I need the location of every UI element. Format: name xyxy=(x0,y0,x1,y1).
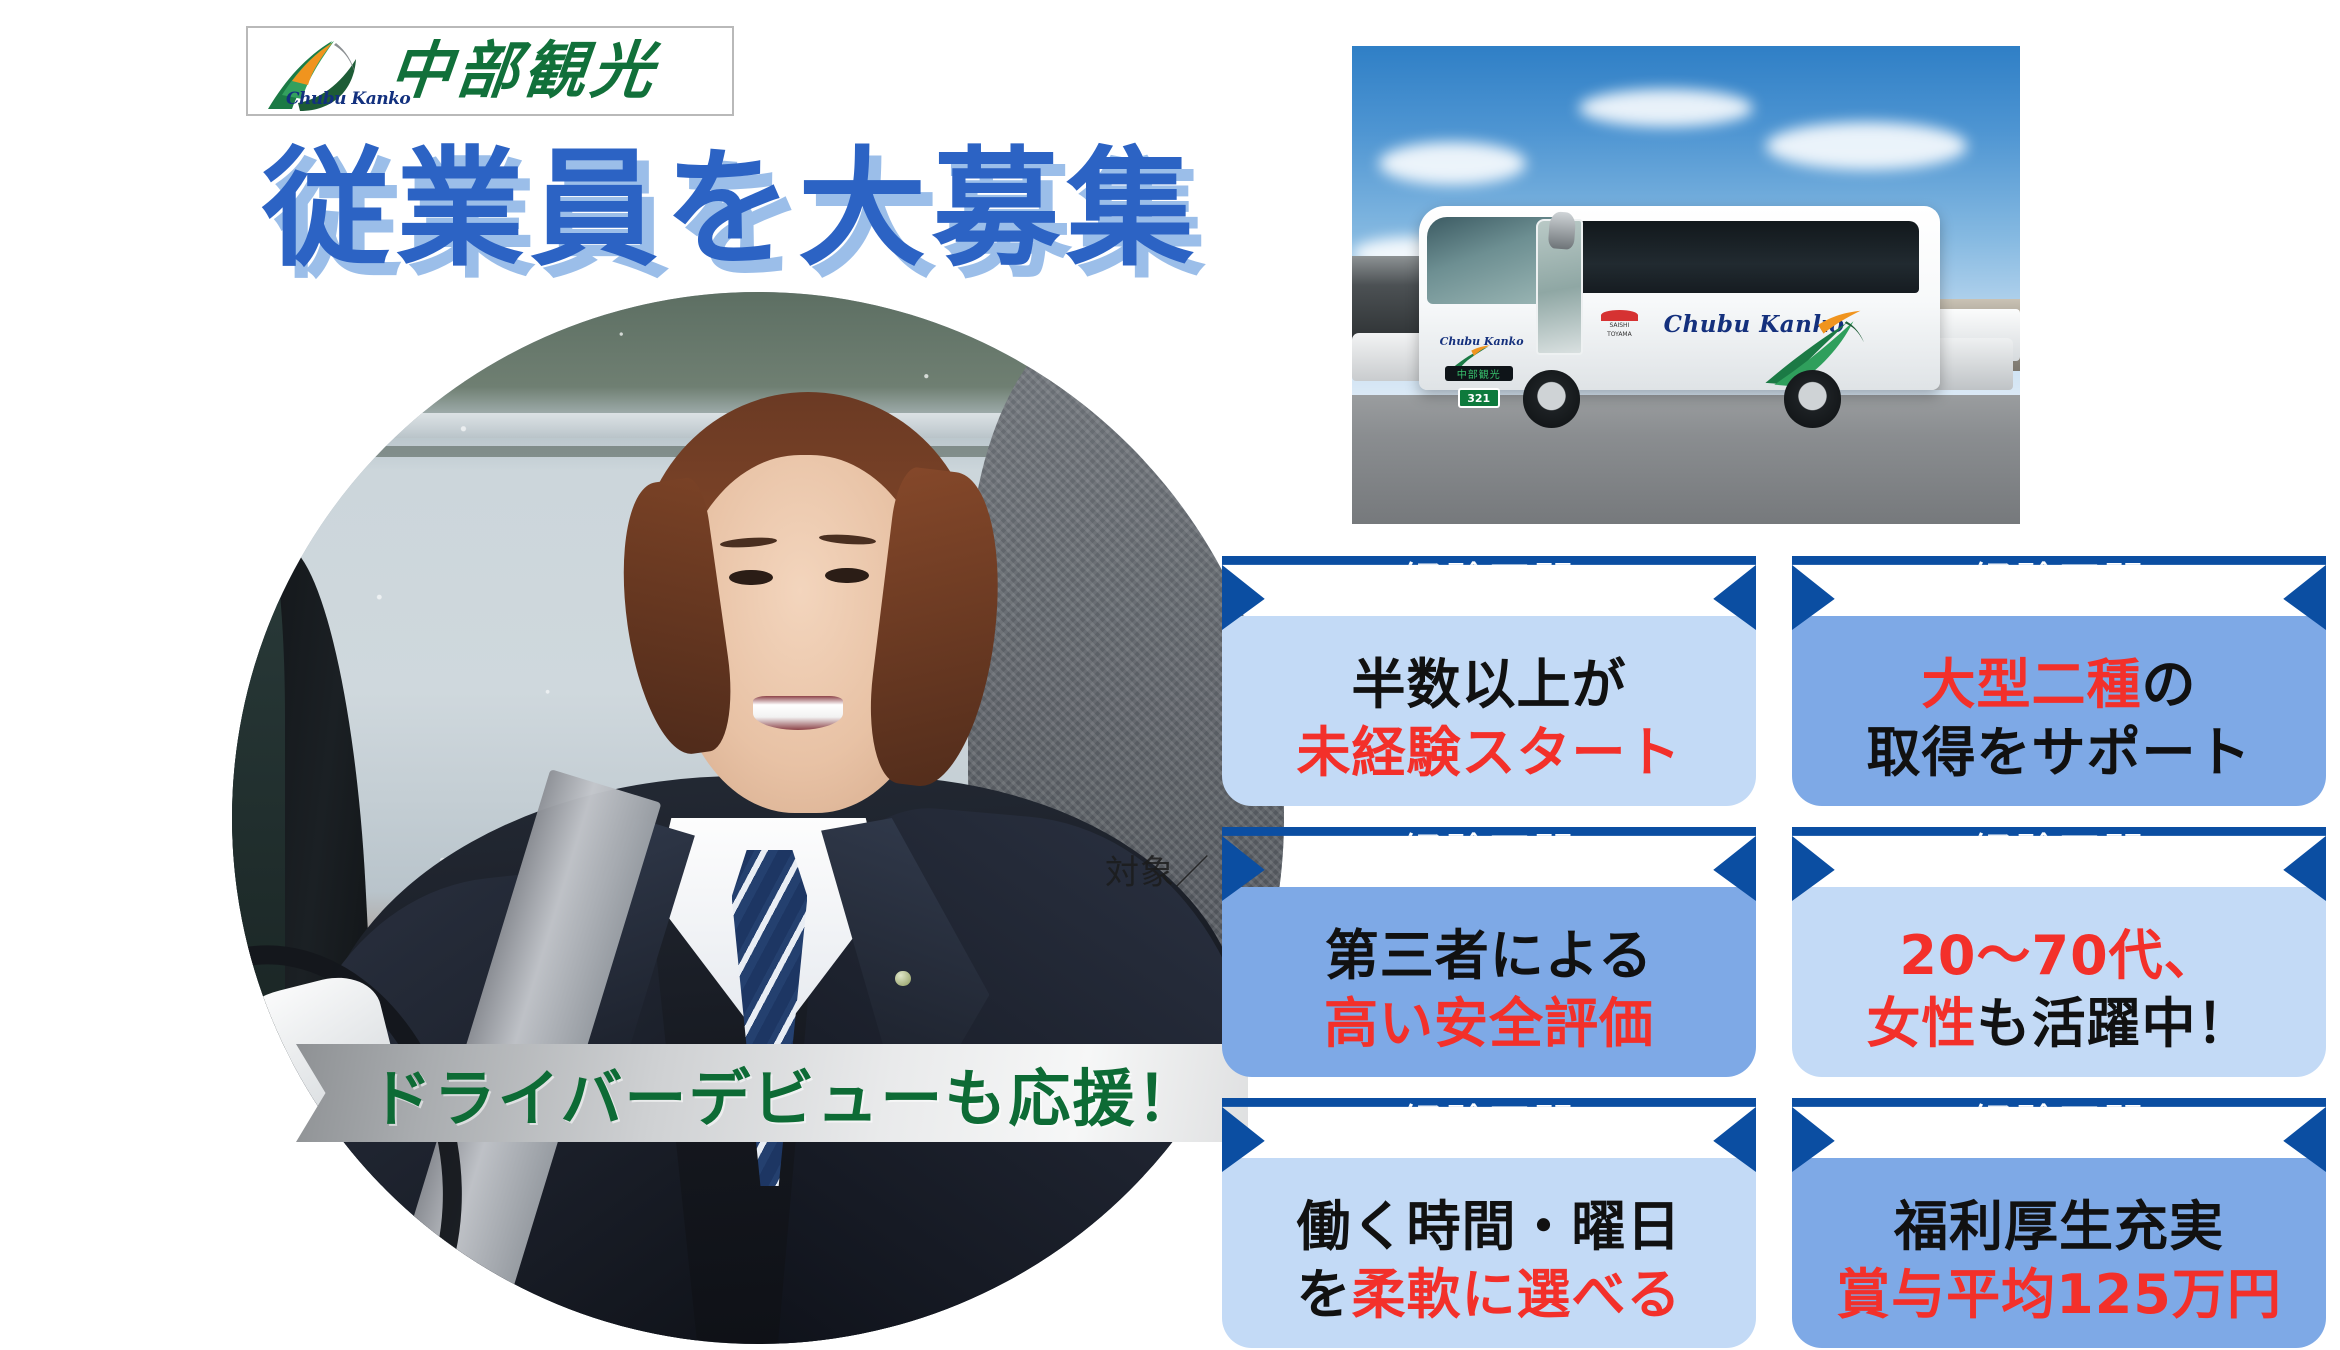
card-line-2: 女性も活躍中！ xyxy=(1867,990,2252,1058)
card-body: 半数以上が 未経験スタート xyxy=(1222,616,1756,806)
card-body: 働く時間・曜日 を柔軟に選べる xyxy=(1222,1158,1756,1348)
photo-smile xyxy=(753,696,843,730)
benefit-card: 経験不問 半数以上が 未経験スタート xyxy=(1222,556,1756,806)
benefit-card: 経験不問 大型二種の 取得をサポート xyxy=(1792,556,2326,806)
card-line-1: 働く時間・曜日 xyxy=(1297,1193,1682,1261)
card-ribbon-label: 経験不問 xyxy=(1971,556,2147,609)
bus-wheel-front xyxy=(1523,370,1580,427)
card-line-1: 大型二種の xyxy=(1922,651,2197,719)
photo-lapel-pin xyxy=(895,971,911,987)
card-body: 大型二種の 取得をサポート xyxy=(1792,616,2326,806)
card-line-2: 未経験スタート xyxy=(1297,719,1682,787)
driver-debut-banner: ドライバーデビューも応援！ xyxy=(296,1044,1248,1142)
cloud-2 xyxy=(1579,89,1753,127)
bus-sticker-line1: SAISHI xyxy=(1609,323,1629,330)
bus-sticker-line2: TOYAMA xyxy=(1607,332,1632,339)
card-body: 20〜70代、 女性も活躍中！ xyxy=(1792,887,2326,1077)
card-line-1: 福利厚生充実 xyxy=(1894,1193,2224,1261)
bus-photo: SAISHI TOYAMA Chubu Kanko Chubu Kanko 中部… xyxy=(1352,46,2020,524)
bus-side-windows xyxy=(1575,221,1919,294)
overlay-note: 対象／ xyxy=(1105,845,1210,894)
card-line-2: 高い安全評価 xyxy=(1324,990,1654,1058)
card-line-2: 賞与平均125万円 xyxy=(1836,1261,2282,1329)
logo-kanji-text: 中部観光 xyxy=(387,40,662,102)
bus-sticker-arc xyxy=(1601,310,1637,320)
card-ribbon-label: 経験不問 xyxy=(1971,827,2147,880)
benefit-card: 経験不問 働く時間・曜日 を柔軟に選べる xyxy=(1222,1098,1756,1348)
card-line-1: 第三者による xyxy=(1325,922,1653,990)
card-body: 福利厚生充実 賞与平均125万円 xyxy=(1792,1158,2326,1348)
company-logo: Chubu Kanko 中部観光 xyxy=(246,26,734,116)
cloud-3 xyxy=(1766,122,1966,170)
card-line-1: 半数以上が xyxy=(1352,651,1627,719)
card-line-1: 20〜70代、 xyxy=(1899,922,2218,990)
benefit-card: 経験不問 第三者による 高い安全評価 xyxy=(1222,827,1756,1077)
page-title: 従業員を大募集 xyxy=(262,138,1200,281)
cloud-1 xyxy=(1379,142,1526,185)
benefit-card: 経験不問 福利厚生充実 賞与平均125万円 xyxy=(1792,1098,2326,1348)
card-line-2: を柔軟に選べる xyxy=(1297,1261,1682,1329)
card-ribbon-label: 経験不問 xyxy=(1401,556,1577,609)
poster-canvas: Chubu Kanko 中部観光 従業員を大募集 xyxy=(0,0,2340,1350)
benefit-card: 経験不問 20〜70代、 女性も活躍中！ xyxy=(1792,827,2326,1077)
bus-destination-sign: 中部観光 xyxy=(1445,366,1513,381)
card-ribbon-label: 経験不問 xyxy=(1971,1098,2147,1151)
chubu-kanko-swoosh-icon: Chubu Kanko xyxy=(262,29,380,113)
benefit-card-grid: 経験不問 半数以上が 未経験スタート 経験不問 大型二種の 取得をサポート 経験… xyxy=(1222,556,2326,1348)
driver-photo xyxy=(232,292,1284,1344)
card-body: 第三者による 高い安全評価 xyxy=(1222,887,1756,1077)
driver-debut-banner-text: ドライバーデビューも応援！ xyxy=(344,1048,1201,1138)
card-ribbon-label: 経験不問 xyxy=(1401,1098,1577,1151)
card-line-2: 取得をサポート xyxy=(1867,719,2252,787)
bus-license-plate: 321 xyxy=(1458,388,1500,408)
bus-vehicle: SAISHI TOYAMA Chubu Kanko Chubu Kanko 中部… xyxy=(1419,199,1940,419)
card-ribbon-label: 経験不問 xyxy=(1401,827,1577,880)
bus-mirror xyxy=(1548,211,1577,250)
bus-wheel-rear xyxy=(1784,370,1841,427)
bus-sticker: SAISHI TOYAMA xyxy=(1601,309,1637,340)
